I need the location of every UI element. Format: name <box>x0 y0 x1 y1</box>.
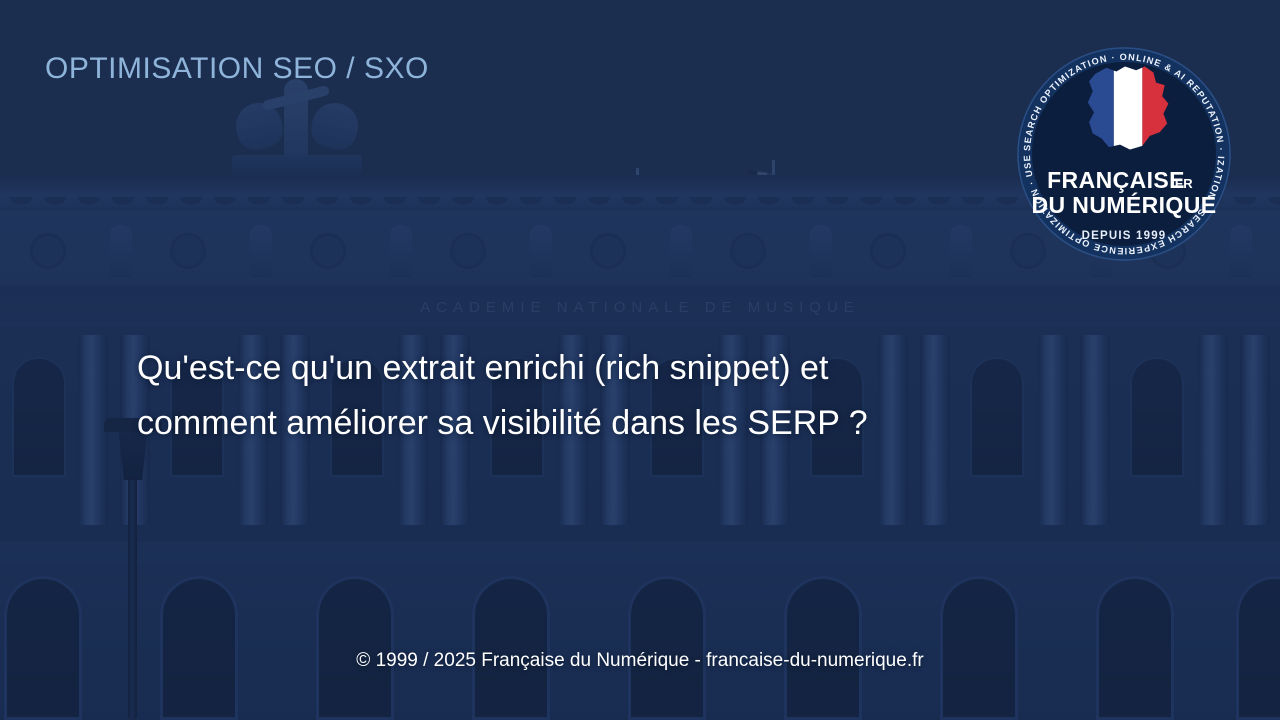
logo-francaise-du-numerique[interactable]: · ARTIFICIAL INTELLIGENCE SEARCH OPTIMIZ… <box>1014 36 1234 266</box>
footer-copyright: © 1999 / 2025 Française du Numérique - f… <box>0 650 1280 672</box>
svg-text:.FR: .FR <box>1171 176 1193 191</box>
logo-since-text: DEPUIS 1999 <box>1082 230 1167 242</box>
kicker-label: OPTIMISATION SEO / SXO <box>45 52 429 86</box>
svg-text:DU NUMÉRIQUE: DU NUMÉRIQUE <box>1032 191 1217 218</box>
page-title: Qu'est-ce qu'un extrait enrichi (rich sn… <box>137 341 1037 451</box>
svg-text:FRANÇAISE: FRANÇAISE <box>1047 167 1185 193</box>
title-line-1: Qu'est-ce qu'un extrait enrichi (rich sn… <box>137 341 1037 396</box>
slide-canvas: ACADEMIE NATIONALE DE MUSIQUE <box>0 0 1280 720</box>
title-line-2: comment améliorer sa visibilité dans les… <box>137 396 1037 451</box>
